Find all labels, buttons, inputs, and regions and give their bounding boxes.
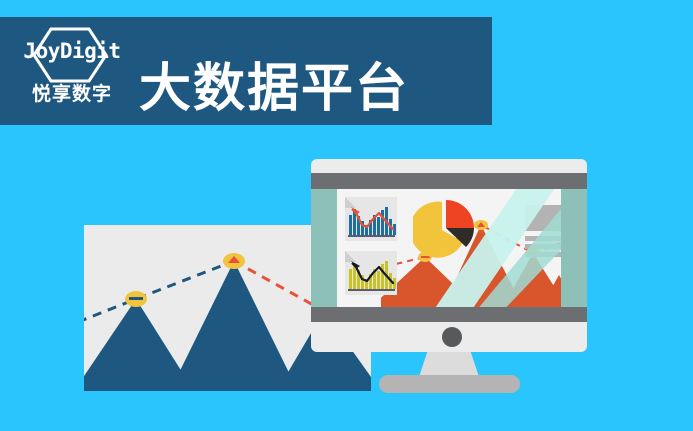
olive-bar-chart-svg (345, 251, 397, 295)
dashboard-content (337, 189, 561, 307)
pie-slice-red (446, 200, 474, 228)
placeholder-line (525, 244, 561, 249)
placeholder-line (525, 252, 561, 257)
olive-bar-chart-thumbnail (345, 251, 397, 295)
illustration-canvas: JoyDigit 悦享数字 大数据平台 (0, 0, 693, 431)
monitor-bottom-bar (311, 307, 587, 322)
monitor-top-bar (311, 173, 587, 189)
monitor-screen (311, 189, 587, 307)
data-point-marker (125, 291, 147, 307)
blue-bar-chart-svg (345, 197, 397, 241)
monitor-base (379, 375, 520, 393)
blue-bar-chart-thumbnail (345, 197, 397, 241)
screen-side-panel-right (561, 189, 587, 307)
text-placeholder-block (525, 205, 561, 254)
data-point-marker (223, 253, 245, 269)
logo-subtitle: 悦享数字 (16, 85, 128, 104)
page-title: 大数据平台 (139, 63, 409, 115)
screen-side-panel-left (311, 189, 337, 307)
placeholder-line (525, 236, 561, 241)
brand-logo: JoyDigit 悦享数字 (16, 27, 128, 115)
desktop-monitor (311, 159, 587, 391)
data-point-marker (474, 220, 488, 230)
header-banner: JoyDigit 悦享数字 大数据平台 (0, 17, 492, 125)
pie-chart (413, 197, 475, 259)
placeholder-heading-block (525, 205, 561, 231)
power-indicator-icon (442, 327, 462, 347)
logo-wordmark: JoyDigit (16, 41, 128, 62)
mountain-shape-center (170, 261, 298, 391)
